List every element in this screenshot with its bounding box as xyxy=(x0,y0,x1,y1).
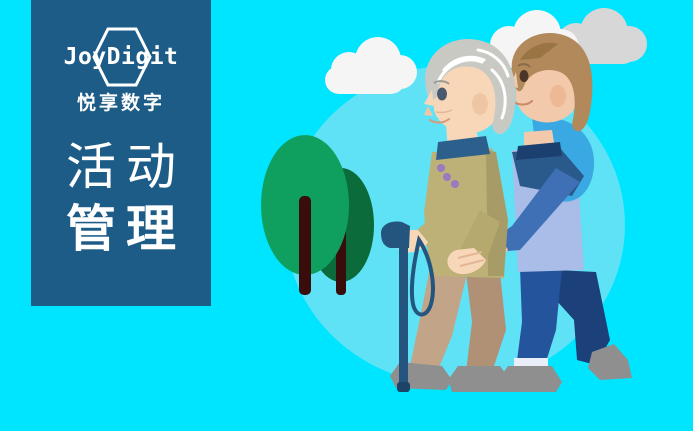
shoe-back-elder xyxy=(448,366,512,392)
poster-canvas: JoyDigit 悦享数字 活动 管理 xyxy=(0,0,693,431)
page-title-line-1: 活动 xyxy=(31,138,211,196)
brand-wordmark: JoyDigit xyxy=(46,40,196,74)
title-panel: JoyDigit 悦享数字 活动 管理 xyxy=(31,0,211,306)
brand-logo: JoyDigit xyxy=(46,26,196,88)
page-title-line-2: 管理 xyxy=(31,200,211,258)
brand-subtitle: 悦享数字 xyxy=(77,92,165,116)
